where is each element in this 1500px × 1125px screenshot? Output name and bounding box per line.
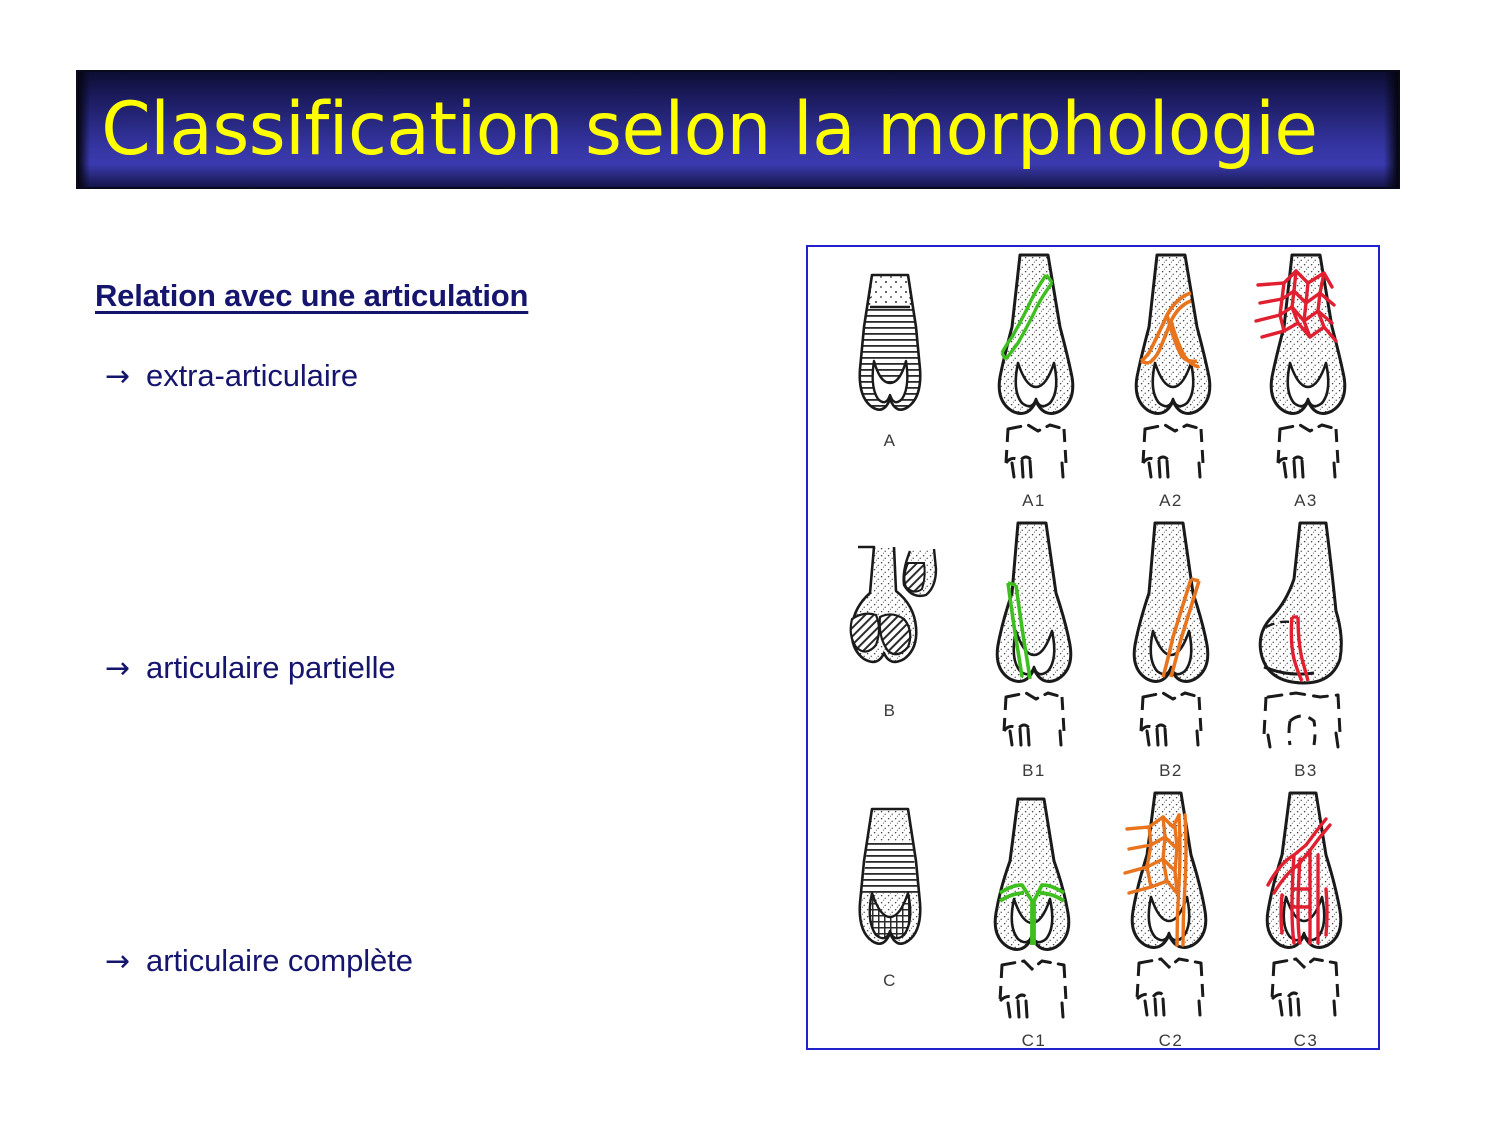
figure-cell-label: B3 bbox=[1240, 761, 1372, 781]
page-title: Classification selon la morphologie bbox=[78, 93, 1318, 166]
figure-cell-b2: B2 bbox=[1105, 519, 1237, 787]
figure-cell-a3: A3 bbox=[1240, 249, 1372, 517]
figure-row-b: B B1 bbox=[808, 519, 1378, 787]
figure-cell-b1: B1 bbox=[968, 519, 1100, 787]
figure-cell-label: C3 bbox=[1240, 1031, 1372, 1051]
figure-cell-label: C2 bbox=[1105, 1031, 1237, 1051]
section-heading: Relation avec une articulation bbox=[95, 278, 735, 314]
bone-diagram-c1 bbox=[968, 789, 1100, 1021]
figure-cell-label: B1 bbox=[968, 761, 1100, 781]
figure-key-label: C bbox=[824, 971, 956, 991]
figure-cell-a2: A2 bbox=[1105, 249, 1237, 517]
figure-cell-a1: A1 bbox=[968, 249, 1100, 517]
figure-key-label: A bbox=[824, 431, 956, 451]
figure-key-a: A bbox=[824, 249, 956, 517]
content-column: Relation avec une articulation → extra-a… bbox=[95, 278, 735, 314]
figure-cell-label: A1 bbox=[968, 491, 1100, 511]
bullet-articulaire-complete: → articulaire complète bbox=[105, 943, 413, 979]
figure-cell-label: C1 bbox=[968, 1031, 1100, 1051]
bullet-label: articulaire complète bbox=[146, 943, 413, 979]
bullet-extra-articulaire: → extra-articulaire bbox=[105, 358, 358, 394]
figure-cell-label: B2 bbox=[1105, 761, 1237, 781]
figure-cell-c1: C1 bbox=[968, 789, 1100, 1057]
bullet-label: articulaire partielle bbox=[146, 650, 395, 686]
figure-cell-c2: C2 bbox=[1105, 789, 1237, 1057]
bone-diagram-a2 bbox=[1105, 249, 1237, 481]
bullet-articulaire-partielle: → articulaire partielle bbox=[105, 650, 396, 686]
figure-key-c: C bbox=[824, 789, 956, 1057]
figure-key-label: B bbox=[824, 701, 956, 721]
bone-diagram-b2 bbox=[1105, 519, 1237, 751]
arrow-icon: → bbox=[105, 944, 130, 979]
bone-diagram-a3 bbox=[1240, 249, 1372, 481]
bullet-label: extra-articulaire bbox=[146, 358, 358, 394]
bone-diagram-a1 bbox=[968, 249, 1100, 481]
arrow-icon: → bbox=[105, 359, 130, 394]
figure-row-c: C C1 bbox=[808, 789, 1378, 1057]
figure-cell-c3: C3 bbox=[1240, 789, 1372, 1057]
slide-title-banner: Classification selon la morphologie bbox=[78, 72, 1398, 187]
arrow-icon: → bbox=[105, 651, 130, 686]
figure-row-a: A A1 bbox=[808, 249, 1378, 517]
figure-cell-b3: B3 bbox=[1240, 519, 1372, 787]
figure-cell-label: A2 bbox=[1105, 491, 1237, 511]
bone-diagram-c2 bbox=[1105, 789, 1237, 1021]
ao-classification-figure: A A1 bbox=[806, 245, 1380, 1050]
bone-diagram-b3 bbox=[1240, 519, 1372, 751]
bone-diagram-b1 bbox=[968, 519, 1100, 751]
figure-cell-label: A3 bbox=[1240, 491, 1372, 511]
figure-key-b: B bbox=[824, 519, 956, 787]
bone-diagram-c3 bbox=[1240, 789, 1372, 1021]
